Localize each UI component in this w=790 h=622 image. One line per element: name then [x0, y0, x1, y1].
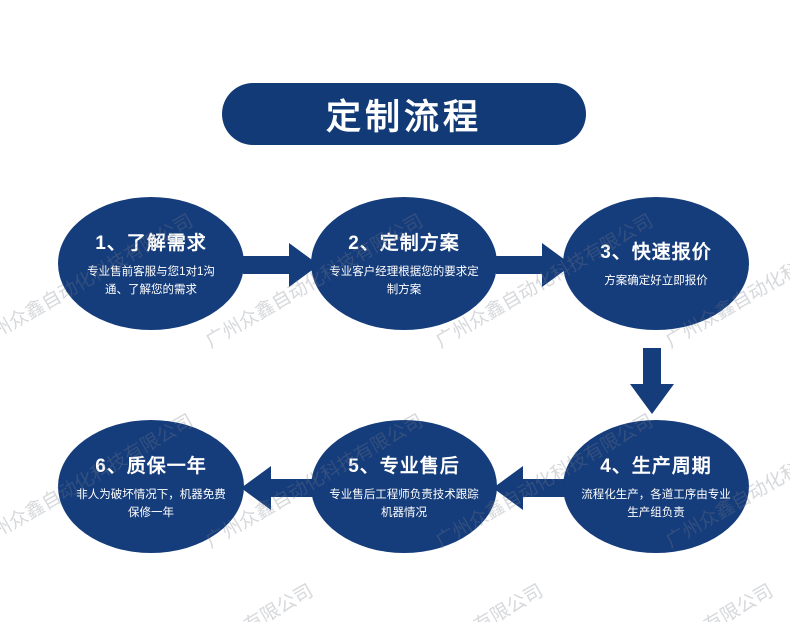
flow-step-5-desc: 专业售后工程师负责技术跟踪机器情况: [329, 487, 479, 523]
page-title: 定制流程: [326, 89, 482, 140]
flow-step-4-title: 4、生产周期: [600, 451, 712, 478]
flow-step-2: 2、定制方案 专业客户经理根据您的要求定制方案: [311, 197, 497, 330]
arrow-1-to-2: [243, 243, 319, 287]
arrow-4-to-5: [493, 466, 569, 510]
flow-step-2-title: 2、定制方案: [348, 228, 460, 255]
flow-step-6-desc: 非人为破坏情况下，机器免费保修一年: [76, 487, 226, 523]
flow-step-6-title: 6、质保一年: [95, 451, 207, 478]
flow-step-3-desc: 方案确定好立即报价: [604, 273, 708, 291]
flow-step-5: 5、专业售后 专业售后工程师负责技术跟踪机器情况: [311, 420, 497, 553]
watermark-text: 广州众鑫自动化科技有限公司: [90, 576, 317, 622]
watermark-text: 广州众鑫自动化科技有限公司: [550, 576, 777, 622]
watermark-text: 广州众鑫自动化科技有限公司: [780, 576, 790, 622]
flow-step-3: 3、快速报价 方案确定好立即报价: [563, 197, 749, 330]
flow-step-5-title: 5、专业售后: [348, 451, 460, 478]
flow-step-1-title: 1、了解需求: [95, 228, 207, 255]
flow-step-4-desc: 流程化生产，各道工序由专业生产组负责: [581, 487, 731, 523]
flow-step-6: 6、质保一年 非人为破坏情况下，机器免费保修一年: [58, 420, 244, 553]
arrow-5-to-6: [241, 466, 317, 510]
flow-step-1: 1、了解需求 专业售前客服与您1对1沟通、了解您的需求: [58, 197, 244, 330]
diagram-title-banner: 定制流程: [222, 83, 586, 145]
flow-step-3-title: 3、快速报价: [600, 237, 712, 264]
arrow-3-to-4: [630, 348, 674, 414]
arrow-2-to-3: [496, 243, 572, 287]
flow-step-1-desc: 专业售前客服与您1对1沟通、了解您的需求: [76, 264, 226, 300]
flow-step-2-desc: 专业客户经理根据您的要求定制方案: [329, 264, 479, 300]
watermark-text: 广州众鑫自动化科技有限公司: [320, 576, 547, 622]
flow-step-4: 4、生产周期 流程化生产，各道工序由专业生产组负责: [563, 420, 749, 553]
flowchart-canvas: 广州众鑫自动化科技有限公司 广州众鑫自动化科技有限公司 广州众鑫自动化科技有限公…: [0, 0, 790, 622]
